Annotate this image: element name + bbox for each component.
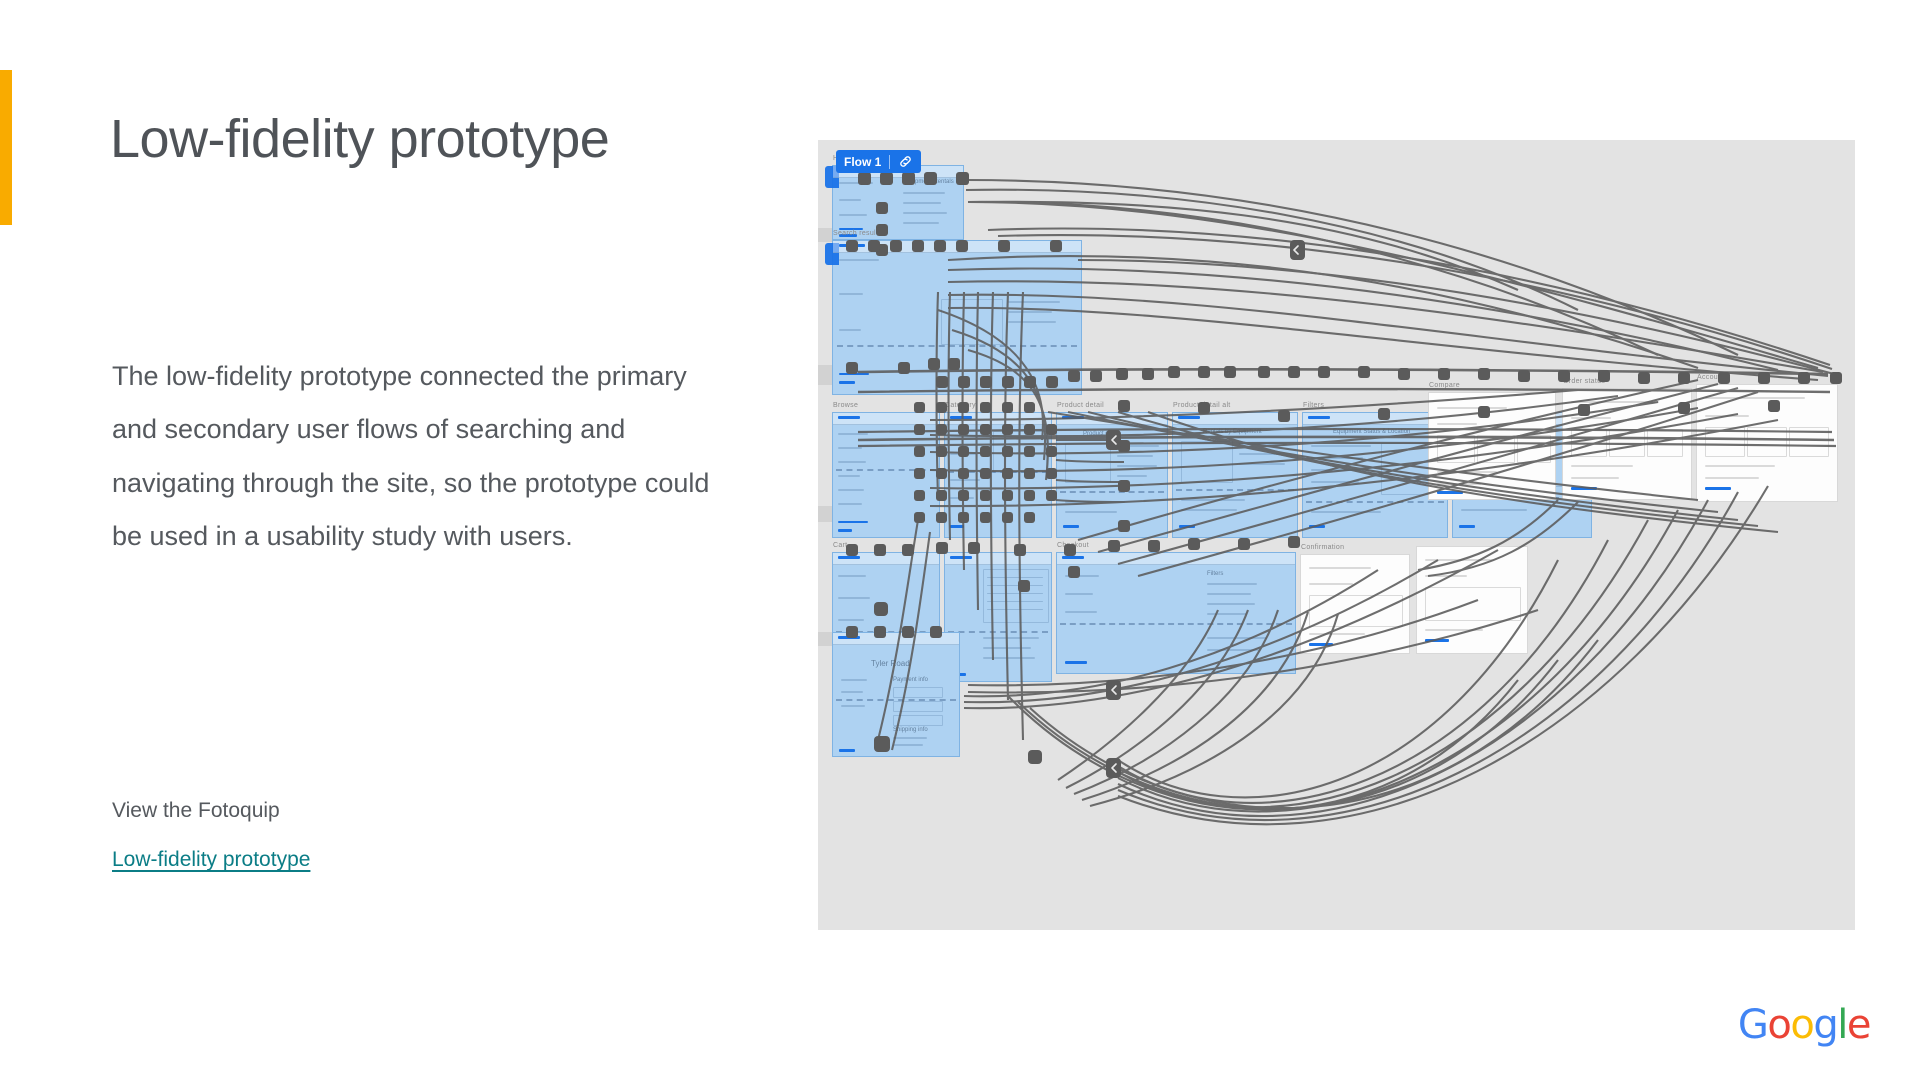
logo-letter-e: e [1847,1002,1870,1048]
logo-letter-o1: o [1767,1002,1790,1048]
frame-label: Product detail [1057,402,1104,409]
frame-label: Compare [1429,382,1460,389]
cta-block: View the Fotoquip Low-fidelity prototype [112,800,732,872]
frame-confirmation-alt[interactable] [1416,546,1528,654]
body-paragraph: The low-fidelity prototype connected the… [112,350,732,564]
frame-category[interactable]: Category [944,412,1052,538]
logo-letter-o2: o [1790,1002,1813,1048]
frame-browse[interactable]: Browse [832,412,940,538]
accent-bar [0,70,12,225]
frame-product-detail[interactable]: Product detail Product detail [1056,412,1168,538]
logo-letter-g2: g [1813,1002,1837,1048]
frame-calendar[interactable] [944,552,1052,682]
link-icon[interactable] [898,154,913,169]
checkout-subtitle: Payment info [893,677,928,683]
cta-lead-text: View the Fotoquip [112,800,732,821]
low-fidelity-prototype-link[interactable]: Low-fidelity prototype [112,848,310,872]
frame-tyler-road[interactable]: Tyler Road Payment info Shipping info [832,632,960,757]
frame-product-detail-alt[interactable]: Product detail alt Rentals by Equipment [1172,412,1298,538]
frame-label: Browse [833,402,858,409]
frame-checkout-step[interactable]: Checkout Filters [1056,552,1296,674]
frame-layer: Home Equipment Rentals Search results [818,140,1855,930]
frame-label: Order status [1563,378,1605,385]
frame-label: Filters [1303,402,1324,409]
frame-account[interactable]: Account [1696,384,1838,502]
slide-text-column: Low-fidelity prototype The low-fidelity … [110,110,750,169]
frame-label: Product detail alt [1173,402,1231,409]
frame-confirmation[interactable]: Confirmation [1300,554,1410,654]
google-logo: Google [1738,1002,1870,1048]
frame-label: Cart [833,542,847,549]
flow-badge[interactable]: Flow 1 [836,150,921,173]
figma-prototype-canvas[interactable]: Flow 1 Home Equipment Rentals [818,140,1855,930]
flow-badge-label: Flow 1 [844,155,881,169]
logo-letter-l: l [1837,1002,1847,1048]
frame-filters[interactable]: Filters Equipment Status & Location [1302,412,1448,538]
frame-order-status[interactable]: Order status [1562,388,1692,500]
flow-badge-divider [889,155,890,169]
frame-home[interactable]: Home Equipment Rentals [832,165,964,240]
logo-letter-g1: G [1738,1002,1768,1048]
frame-label: Confirmation [1301,544,1344,551]
frame-label: Account [1697,374,1724,381]
checkout-title: Tyler Road [871,659,910,668]
page-title: Low-fidelity prototype [110,110,750,169]
frame-label: Checkout [1057,542,1089,549]
frame-label: Search results [833,230,882,237]
frame-label: Category [945,402,976,409]
shipping-title: Shipping info [893,727,928,733]
frame-compare[interactable]: Compare [1428,392,1556,500]
frame-search-results[interactable]: Search results [832,240,1082,395]
